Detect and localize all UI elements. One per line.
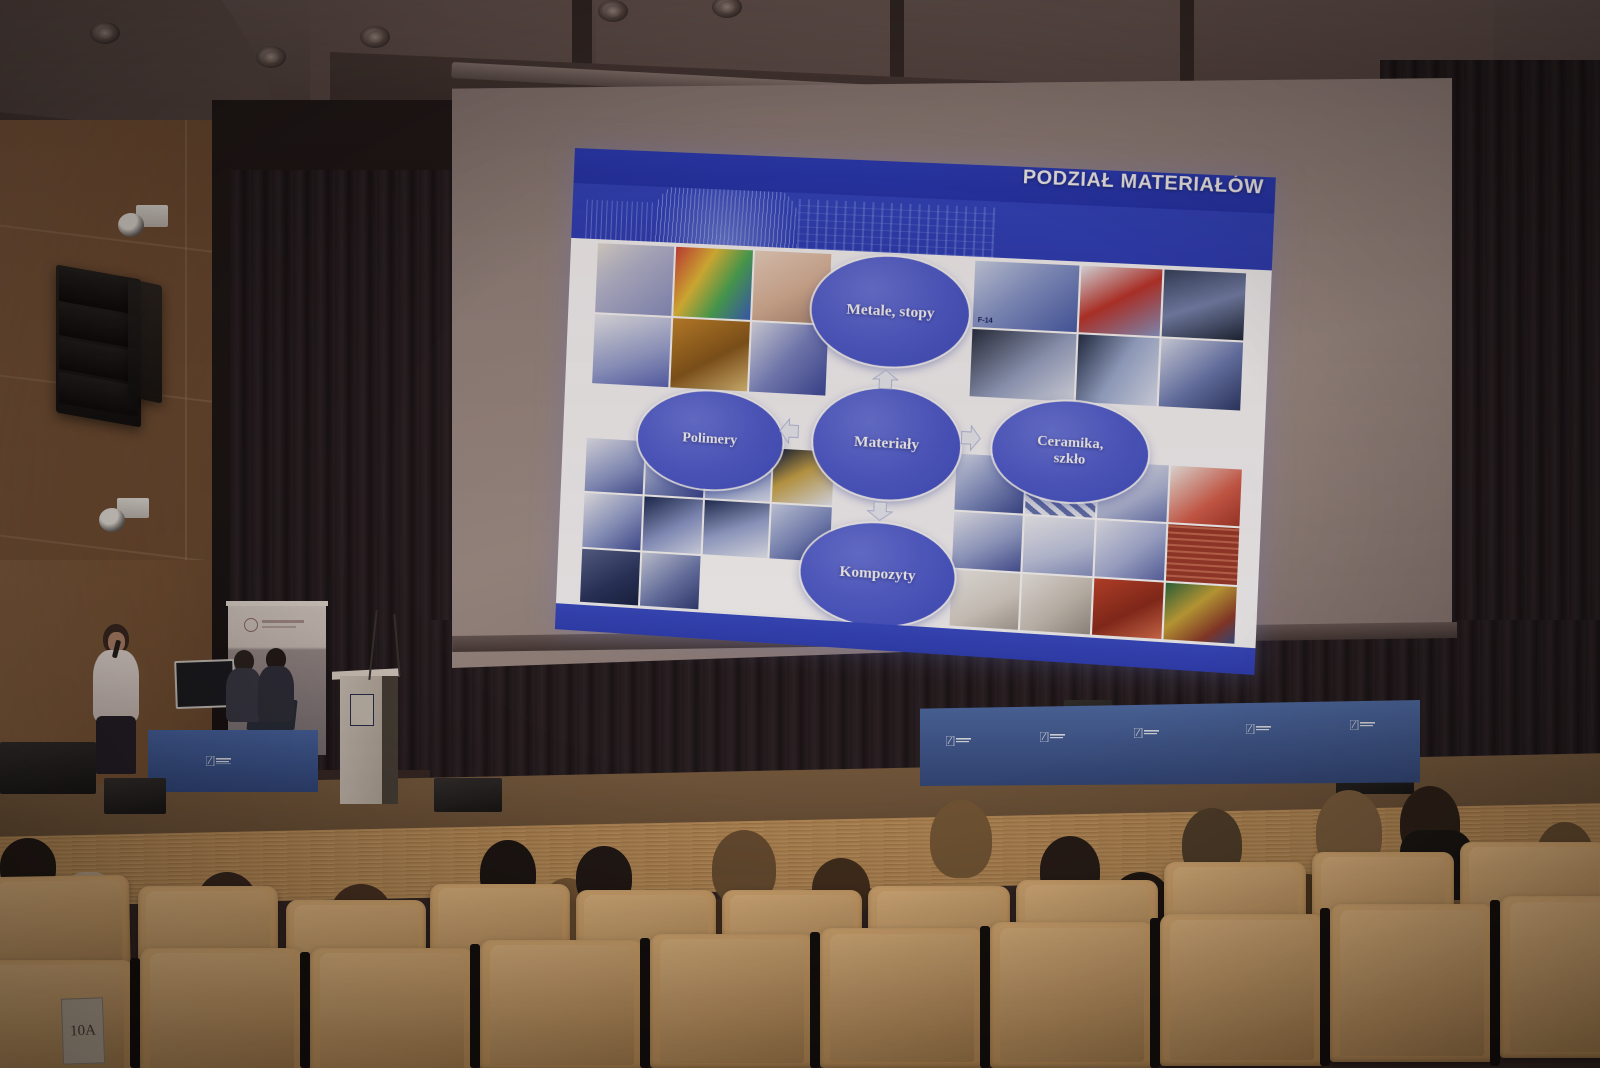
node-metale-stopy: Metale, stopy	[810, 253, 972, 371]
rollup-banner-top-rail	[226, 601, 328, 606]
auditorium-scene: PODZIAŁ MATERIAŁÓW F-14	[0, 0, 1600, 1068]
arrow-right-icon	[960, 425, 982, 453]
head-table	[920, 700, 1420, 786]
table-logo-politechnika	[1350, 720, 1376, 730]
seat-gap	[1320, 908, 1330, 1066]
banner-subtitle-text	[262, 626, 296, 628]
seat[interactable]	[650, 934, 814, 1068]
technician-torso	[226, 668, 262, 722]
seat[interactable]	[480, 940, 644, 1068]
table-logo-politechnika	[1134, 728, 1160, 738]
arrow-up-icon	[871, 368, 899, 390]
seat-gap	[300, 952, 310, 1068]
presenter-blouse	[93, 650, 139, 722]
stage-monitor-wedge	[0, 742, 96, 794]
seat-gap	[470, 944, 480, 1068]
downlight-icon	[256, 46, 286, 68]
seat-gap	[810, 932, 820, 1068]
row-sign: 10A	[61, 997, 105, 1064]
seat-gap	[1490, 900, 1500, 1066]
presentation-slide: PODZIAŁ MATERIAŁÓW F-14	[555, 148, 1276, 675]
technician2-torso	[258, 666, 294, 722]
arrow-down-icon	[866, 500, 894, 522]
photo-caption-f14: F-14	[978, 317, 993, 325]
node-materialy: Materiały	[811, 385, 962, 503]
stage-monitor-wedge	[434, 778, 502, 812]
table-logo-politechnika	[1246, 724, 1272, 734]
seat-gap	[980, 926, 990, 1068]
tech-table-left	[148, 730, 318, 792]
seat[interactable]	[1160, 914, 1324, 1066]
table-logo-politechnika	[206, 756, 232, 766]
downlight-icon	[90, 22, 120, 44]
collage-metals: F-14	[969, 261, 1246, 410]
downlight-icon	[360, 26, 390, 48]
arrow-left-icon	[779, 417, 800, 444]
line-array-speaker-side	[128, 278, 162, 403]
seat-gap	[130, 958, 140, 1068]
downlight-icon	[598, 0, 628, 22]
podium-side	[382, 676, 398, 804]
seat[interactable]	[990, 922, 1154, 1068]
audience-head	[930, 800, 992, 878]
podium-logo-pr	[350, 694, 374, 726]
seat-gap	[1150, 918, 1160, 1068]
seat[interactable]	[1500, 896, 1600, 1058]
presenter-trousers	[96, 716, 136, 774]
seat[interactable]	[820, 928, 984, 1068]
banner-logo-icon	[244, 618, 258, 632]
table-logo-politechnika	[1040, 732, 1066, 742]
seat[interactable]	[310, 948, 474, 1068]
collage-polymers	[592, 243, 831, 395]
seat[interactable]	[1330, 904, 1494, 1062]
table-logo-politechnika	[946, 736, 972, 746]
stage-monitor-wedge	[104, 778, 166, 814]
seat[interactable]	[140, 948, 304, 1068]
seat-gap	[640, 938, 650, 1068]
banner-title-text	[262, 620, 304, 623]
